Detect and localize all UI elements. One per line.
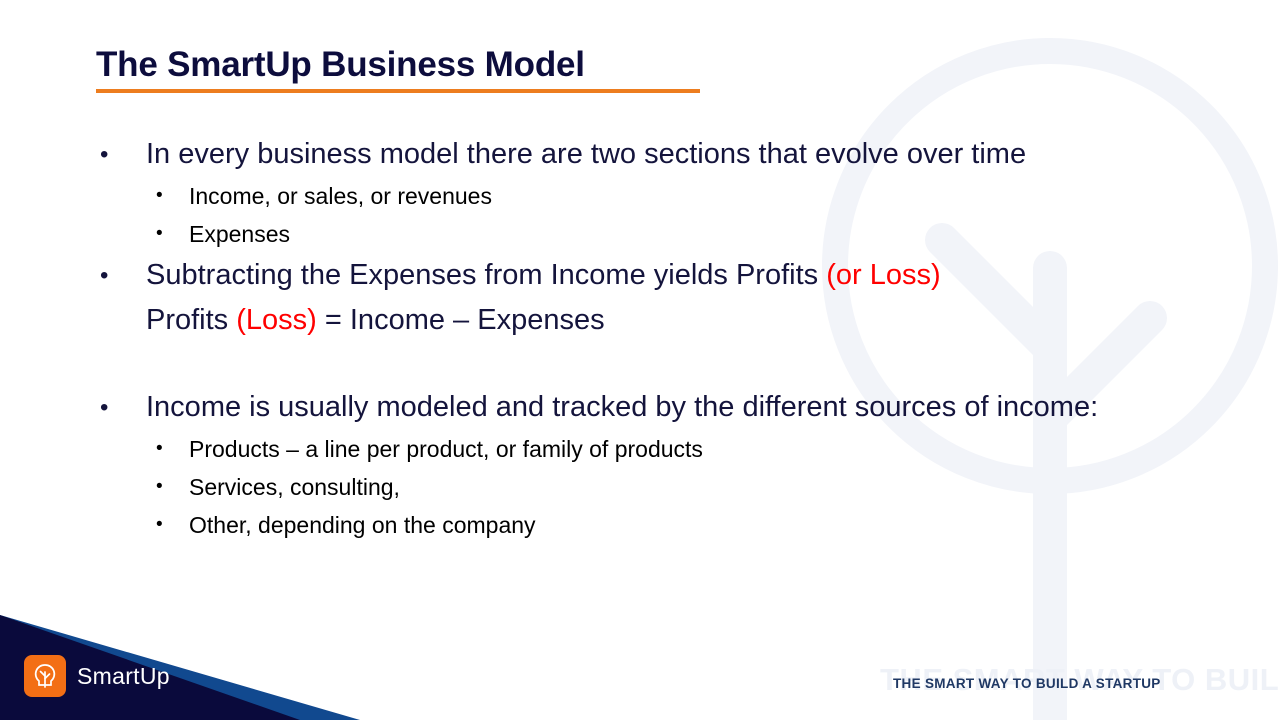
bullet-level2: • Income, or sales, or revenues — [96, 177, 1206, 215]
bullet-glyph-icon: • — [96, 385, 146, 430]
bullet-level1: • Subtracting the Expenses from Income y… — [96, 253, 1206, 343]
profit-formula-line1-prefix: Subtracting the Expenses from Income yie… — [146, 259, 826, 291]
bullet-level1-text: In every business model there are two se… — [146, 132, 1206, 177]
paragraph-spacer — [96, 343, 1206, 385]
bullet-glyph-icon: • — [96, 132, 146, 177]
title-block: The SmartUp Business Model — [96, 46, 796, 93]
brand-logo: SmartUp — [24, 655, 170, 697]
title-underline-rule — [96, 89, 700, 93]
profit-formula-line2-loss: (Loss) — [236, 304, 317, 336]
bullet-level1: • In every business model there are two … — [96, 132, 1206, 177]
bullet-level2: • Services, consulting, — [96, 468, 1206, 506]
bullet-level2-text: Expenses — [189, 215, 1206, 253]
bullet-level2-text: Products – a line per product, or family… — [189, 430, 1206, 468]
bullet-glyph-icon: • — [156, 506, 189, 544]
bullet-level2: • Products – a line per product, or fami… — [96, 430, 1206, 468]
profit-formula-line1-loss: (or Loss) — [826, 259, 940, 291]
bullet-level1: • Income is usually modeled and tracked … — [96, 385, 1206, 430]
bullet-glyph-icon: • — [156, 468, 189, 506]
bullet-level1-text: Subtracting the Expenses from Income yie… — [146, 253, 1206, 343]
footer-tagline: THE SMART WAY TO BUILD A STARTUP — [893, 676, 1161, 691]
profit-formula-line2-suffix: = Income – Expenses — [317, 304, 605, 336]
bullet-glyph-icon: • — [156, 430, 189, 468]
bullet-level2: • Other, depending on the company — [96, 506, 1206, 544]
bullet-level2-text: Income, or sales, or revenues — [189, 177, 1206, 215]
bullet-level1-text: Income is usually modeled and tracked by… — [146, 385, 1206, 430]
slide-canvas: THE SMART WAY TO BUILD A STARTUP The Sma… — [0, 0, 1280, 720]
bullet-level2: • Expenses — [96, 215, 1206, 253]
brand-wordmark: SmartUp — [77, 663, 170, 690]
bullet-glyph-icon: • — [96, 253, 146, 298]
page-title: The SmartUp Business Model — [96, 46, 796, 85]
bullet-glyph-icon: • — [156, 177, 189, 215]
smartup-tree-icon — [24, 655, 66, 697]
bullet-level2-text: Services, consulting, — [189, 468, 1206, 506]
bullet-glyph-icon: • — [156, 215, 189, 253]
bullet-level2-text: Other, depending on the company — [189, 506, 1206, 544]
profit-formula-line2-prefix: Profits — [146, 304, 236, 336]
body-content: • In every business model there are two … — [96, 132, 1206, 544]
